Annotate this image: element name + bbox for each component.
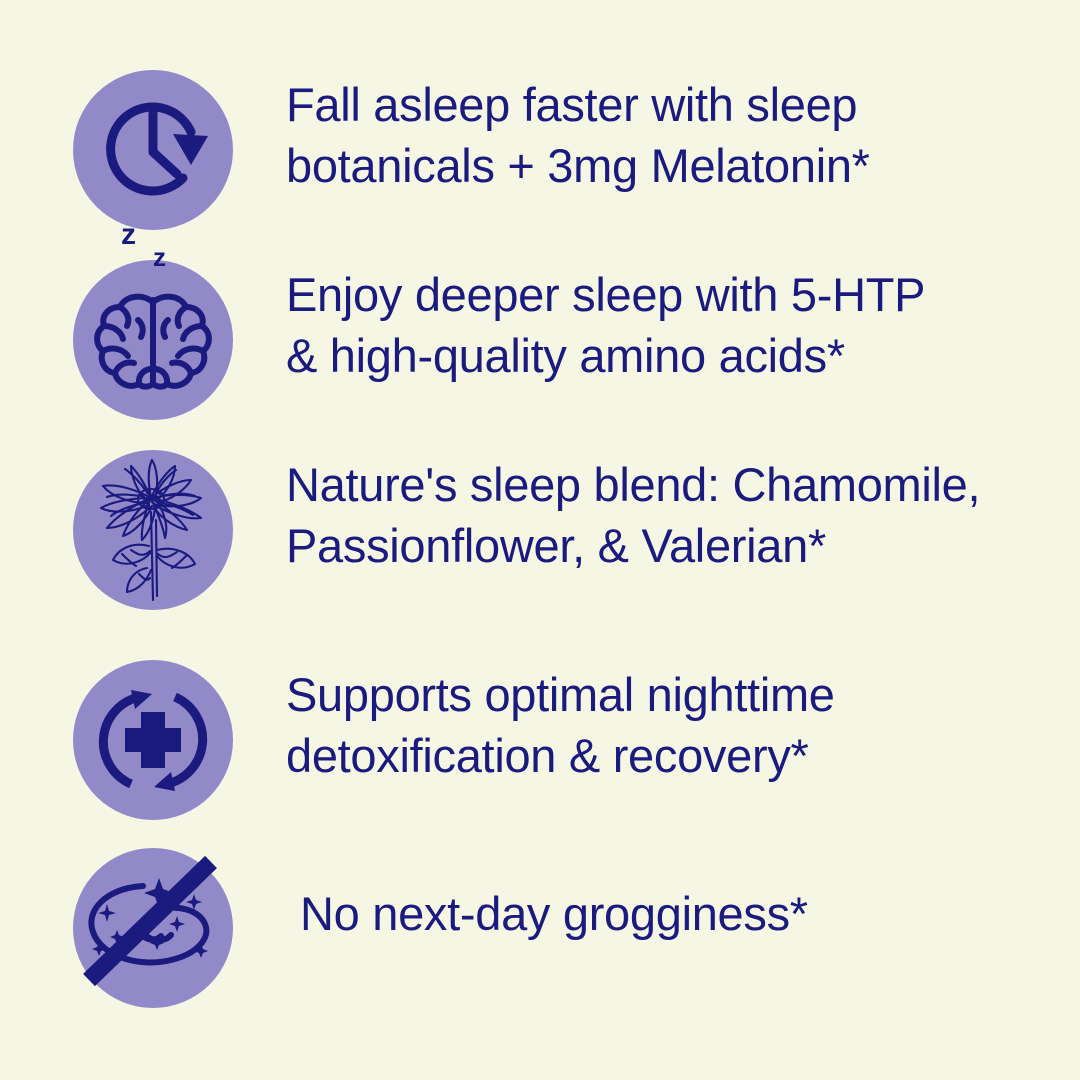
benefit-row: Supports optimal nighttime detoxificatio… [0,660,1080,820]
benefit-text: Supports optimal nighttime detoxificatio… [286,664,1046,786]
benefit-text: Nature's sleep blend: Chamomile, Passion… [286,454,1046,576]
benefits-panel: Fall asleep faster with sleep botanicals… [0,0,1080,1080]
benefit-line: Passionflower, & Valerian* [286,515,1046,576]
benefit-row: Nature's sleep blend: Chamomile, Passion… [0,450,1080,610]
benefit-text: No next-day grogginess* [300,883,1060,944]
benefit-line: No next-day grogginess* [300,883,1060,944]
chamomile-flower-icon [73,450,233,610]
no-grogginess-galaxy-icon [73,848,233,1008]
benefit-line: botanicals + 3mg Melatonin* [286,135,1046,196]
medical-cross-recovery-icon [73,660,233,820]
brain-sleep-icon: z z [73,260,233,420]
benefit-line: & high-quality amino acids* [286,325,1046,386]
benefit-line: Enjoy deeper sleep with 5-HTP [286,264,1046,325]
benefit-row: No next-day grogginess* [0,848,1080,1008]
clock-rotate-icon [73,70,233,230]
benefit-line: Nature's sleep blend: Chamomile, [286,454,1046,515]
benefit-row: Fall asleep faster with sleep botanicals… [0,70,1080,230]
benefit-text: Fall asleep faster with sleep botanicals… [286,74,1046,196]
benefit-row: z z [0,260,1080,420]
benefit-text: Enjoy deeper sleep with 5-HTP & high-qua… [286,264,1046,386]
benefit-line: Fall asleep faster with sleep [286,74,1046,135]
benefit-line: Supports optimal nighttime [286,664,1046,725]
benefit-line: detoxification & recovery* [286,725,1046,786]
